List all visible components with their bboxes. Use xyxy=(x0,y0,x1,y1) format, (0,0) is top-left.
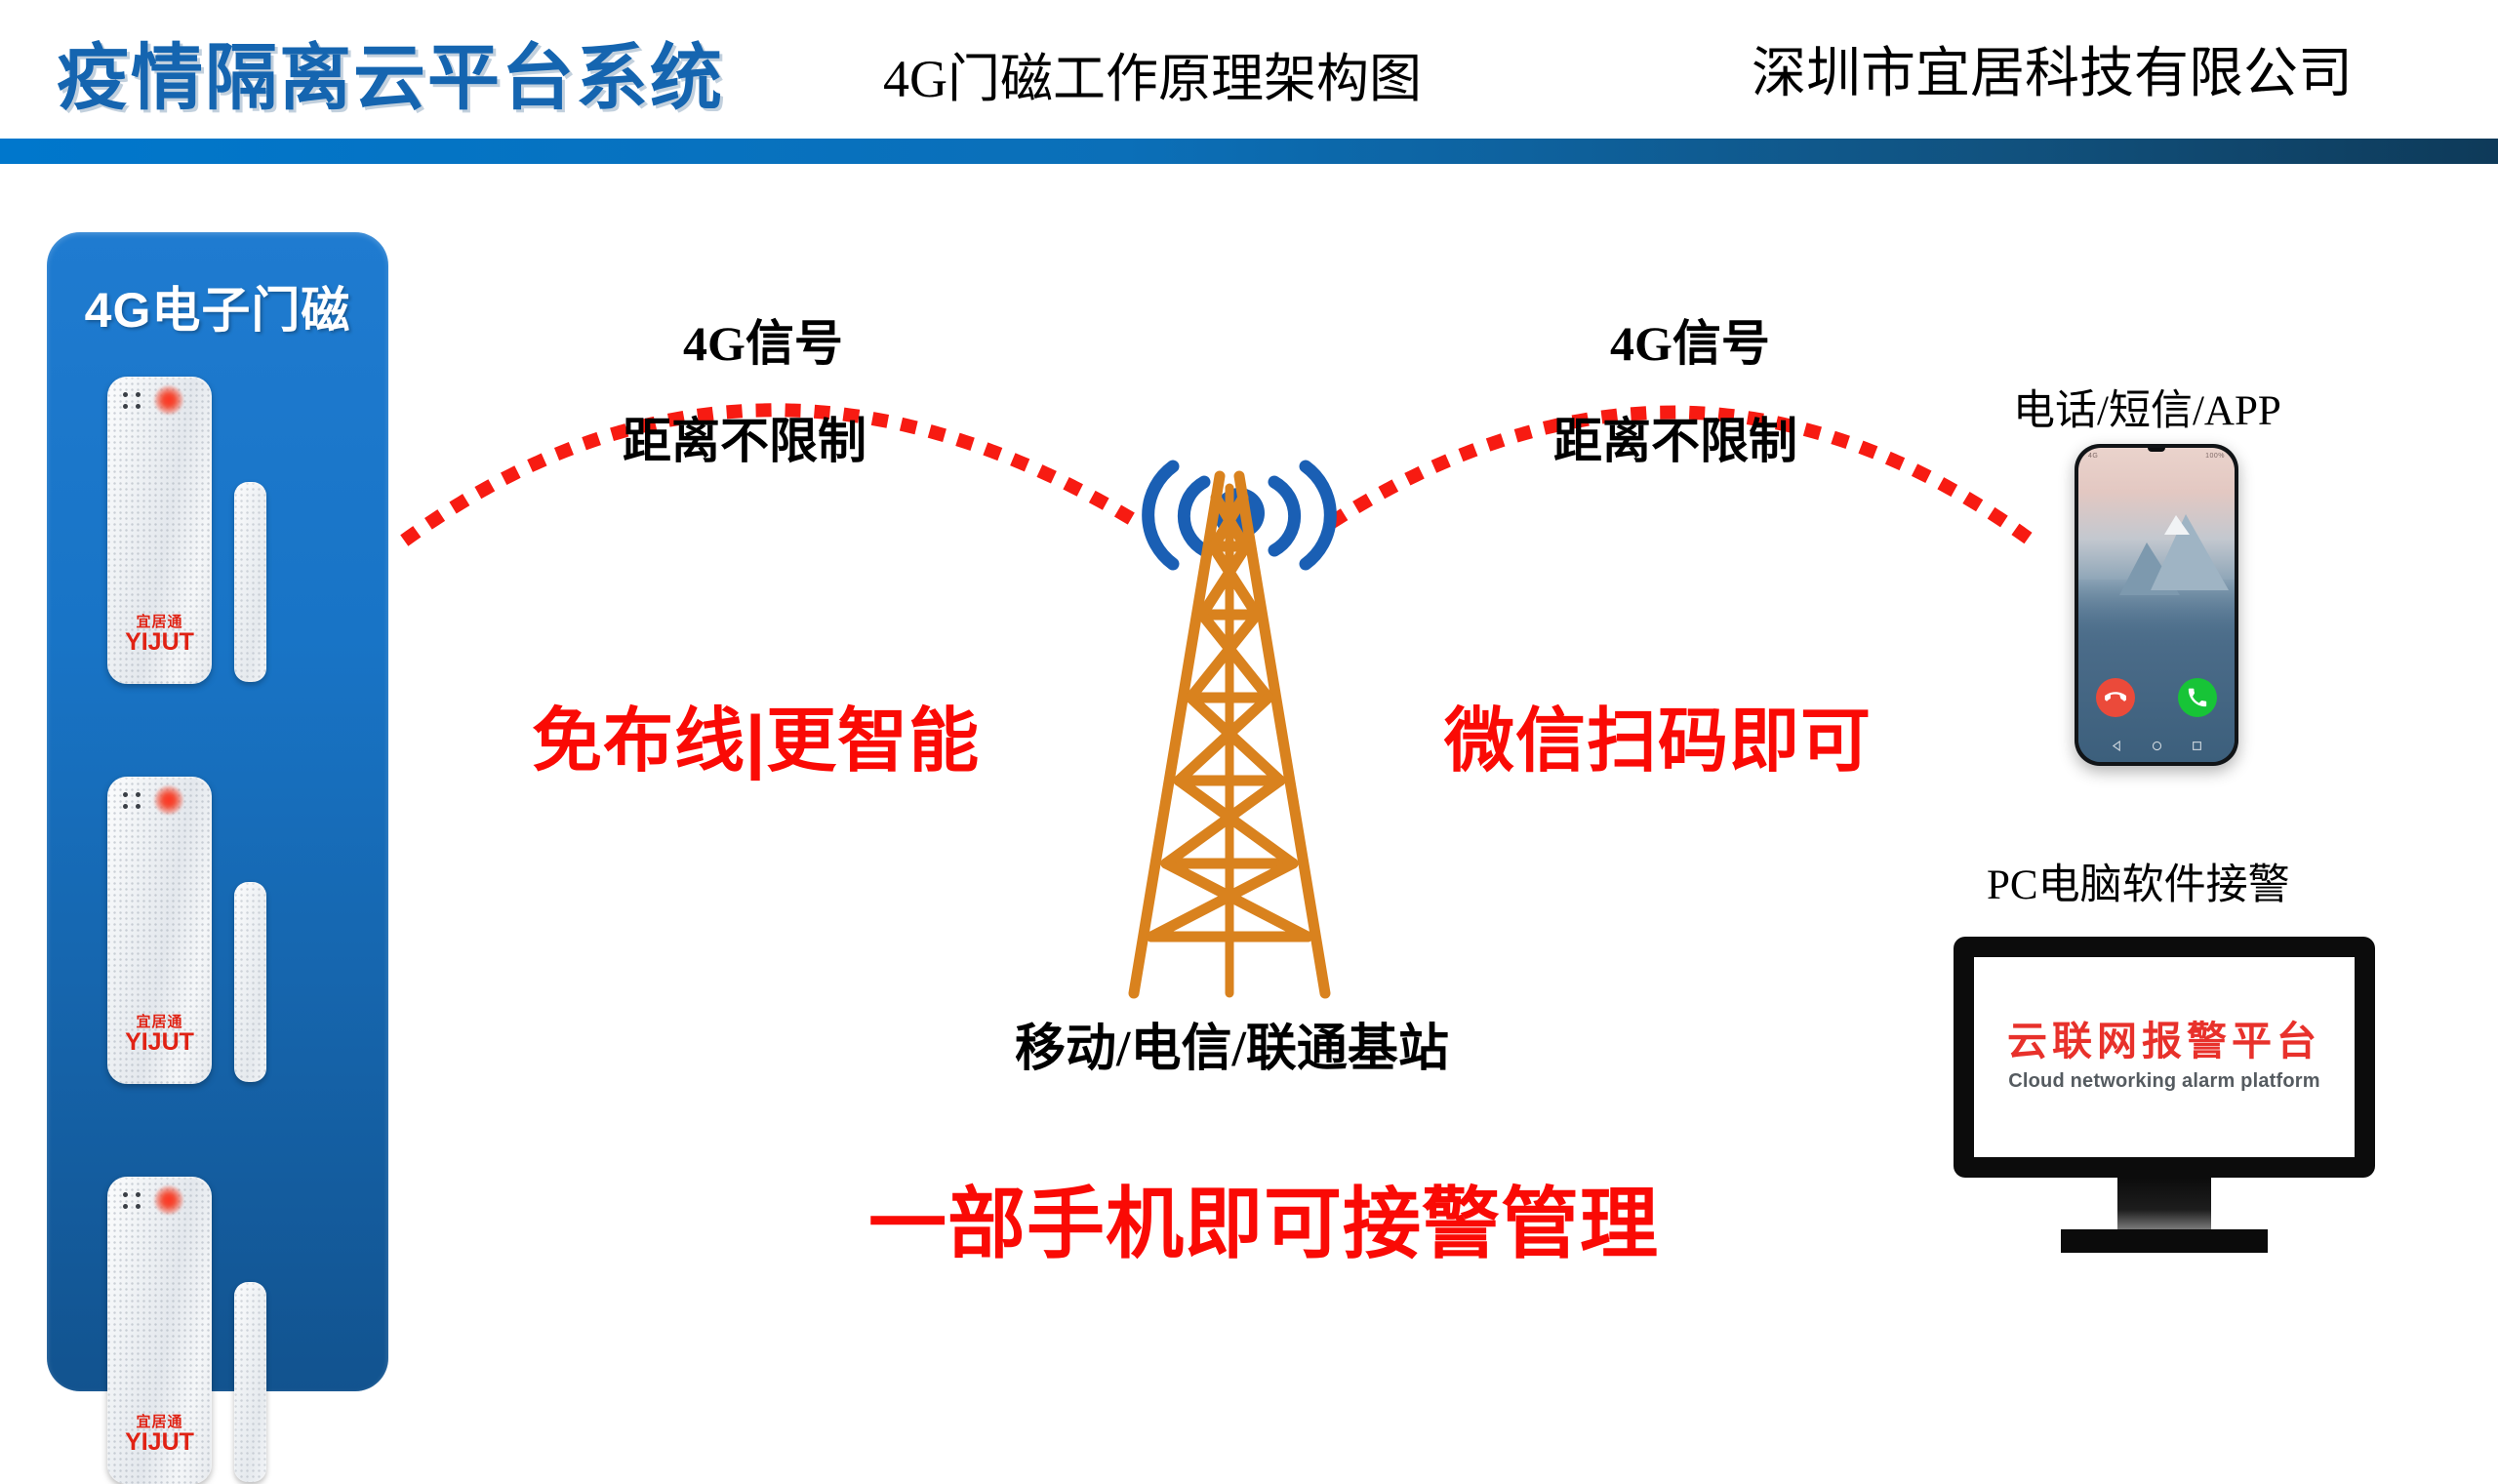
nav-back-icon[interactable] xyxy=(2112,739,2122,756)
magnet-bar xyxy=(234,1282,266,1482)
device-panel-title: 4G电子门磁 xyxy=(47,271,388,341)
diagram-subtitle: 4G门磁工作原理架构图 xyxy=(883,35,1422,112)
brand-logo-en: YIJUT xyxy=(107,630,212,655)
page-title: 疫情隔离云平台系统 xyxy=(57,20,724,124)
android-nav-bar xyxy=(2078,739,2235,756)
brand-logo-cn: 宜居通 xyxy=(107,1015,212,1029)
nav-home-icon[interactable] xyxy=(2152,739,2162,756)
wallpaper-lower-gradient xyxy=(2078,580,2235,762)
distance-label-right: 距离不限制 xyxy=(1553,402,1797,472)
pc-monitor: 云联网报警平台 Cloud networking alarm platform xyxy=(1954,937,2375,1210)
brand-logo: 宜居通 YIJUT xyxy=(107,1415,212,1455)
distance-label-left: 距离不限制 xyxy=(623,402,866,472)
led-indicator-icon xyxy=(154,785,183,815)
led-indicator-icon xyxy=(154,1185,183,1215)
tower-label: 移动/电信/联通基站 xyxy=(1015,1007,1449,1080)
sensor-body: 宜居通 YIJUT xyxy=(107,777,212,1084)
phone-screen: 4G 100% xyxy=(2078,448,2235,762)
header-accent-bar xyxy=(0,139,2498,164)
wallpaper-snow-cap xyxy=(2164,515,2190,535)
monitor-screen: 云联网报警平台 Cloud networking alarm platform xyxy=(1974,957,2355,1157)
device-panel: 4G电子门磁 宜居通 YIJUT 宜居通 YIJUT xyxy=(47,232,388,1391)
magnet-bar xyxy=(234,882,266,1082)
speaker-grill-icon xyxy=(123,392,146,409)
phone-label: 电话/短信/APP xyxy=(2013,377,2281,437)
speaker-grill-icon xyxy=(123,1192,146,1209)
phone-status-bar: 4G 100% xyxy=(2078,453,2235,462)
status-battery-text: 100% xyxy=(2205,453,2225,462)
tagline-left: 免布线|更智能 xyxy=(532,683,980,785)
led-indicator-icon xyxy=(154,385,183,415)
sensor-body: 宜居通 YIJUT xyxy=(107,377,212,684)
tagline-right: 微信扫码即可 xyxy=(1444,683,1872,785)
brand-logo-cn: 宜居通 xyxy=(107,1415,212,1429)
signal-label-left: 4G信号 xyxy=(683,304,843,375)
brand-logo-en: YIJUT xyxy=(107,1030,212,1055)
monitor-stand-base xyxy=(2061,1229,2268,1253)
cell-tower-icon xyxy=(1073,459,1386,1005)
phone-accept-icon[interactable] xyxy=(2178,678,2217,717)
platform-title-en: Cloud networking alarm platform xyxy=(2008,1070,2320,1093)
smartphone: 4G 100% xyxy=(2075,444,2238,766)
status-signal-text: 4G xyxy=(2088,453,2098,462)
magnet-bar xyxy=(234,482,266,682)
phone-notch xyxy=(2148,448,2165,452)
brand-logo-cn: 宜居通 xyxy=(107,615,212,629)
page-header: 疫情隔离云平台系统 4G门磁工作原理架构图 深圳市宜居科技有限公司 xyxy=(0,0,2498,146)
phone-decline-icon[interactable] xyxy=(2096,678,2135,717)
sensor-body: 宜居通 YIJUT xyxy=(107,1177,212,1484)
brand-logo-en: YIJUT xyxy=(107,1430,212,1455)
brand-logo: 宜居通 YIJUT xyxy=(107,1015,212,1055)
diagram-canvas: 疫情隔离云平台系统 4G门磁工作原理架构图 深圳市宜居科技有限公司 4G电子门磁… xyxy=(0,0,2498,1405)
brand-logo: 宜居通 YIJUT xyxy=(107,615,212,655)
pc-label: PC电脑软件接警 xyxy=(1987,851,2290,911)
speaker-grill-icon xyxy=(123,792,146,809)
monitor-stand-neck xyxy=(2117,1178,2211,1236)
signal-label-right: 4G信号 xyxy=(1610,304,1770,375)
company-name: 深圳市宜居科技有限公司 xyxy=(1752,29,2353,108)
tagline-bottom: 一部手机即可接警管理 xyxy=(868,1161,1659,1274)
platform-title-cn: 云联网报警平台 xyxy=(2007,1022,2321,1062)
nav-recents-icon[interactable] xyxy=(2192,739,2202,756)
incoming-call-controls xyxy=(2078,678,2235,717)
monitor-bezel: 云联网报警平台 Cloud networking alarm platform xyxy=(1954,937,2375,1178)
